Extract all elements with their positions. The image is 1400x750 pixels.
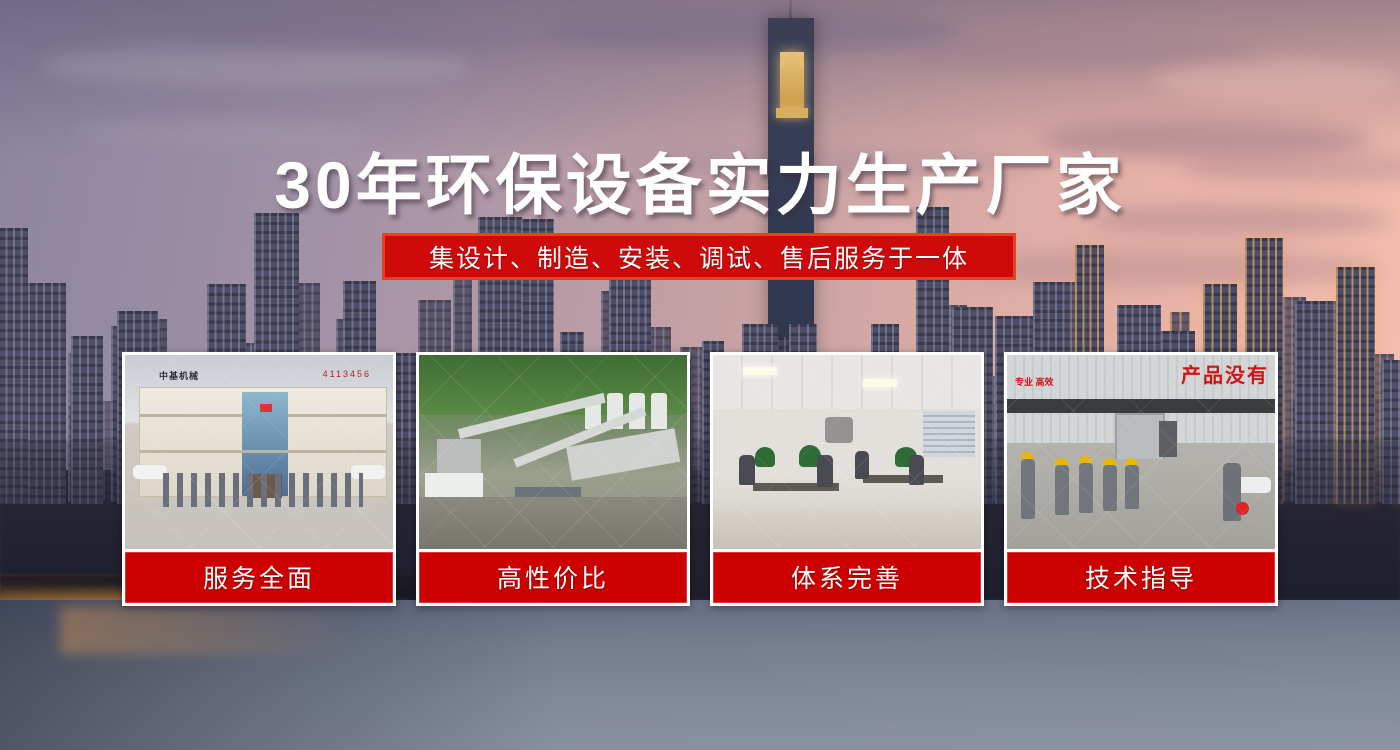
worker <box>1125 465 1139 509</box>
worker <box>1079 463 1093 513</box>
feature-card[interactable]: 高性价比 <box>416 352 690 606</box>
ceiling <box>713 355 981 409</box>
plant-yard <box>419 497 687 549</box>
office-worker <box>909 455 924 485</box>
factory-window-band <box>1007 399 1275 413</box>
potted-plant <box>755 447 775 467</box>
staff-lineup <box>163 473 363 507</box>
building-phone-number: 4113456 <box>323 369 371 379</box>
feature-card[interactable]: 中基机械 4113456 服务全面 <box>122 352 396 606</box>
office-desk <box>863 475 943 483</box>
parked-car <box>133 465 167 479</box>
subtitle-text: 集设计、制造、安装、调试、售后服务于一体 <box>429 239 969 275</box>
office-worker <box>817 455 833 487</box>
card-caption: 技术指导 <box>1007 549 1275 603</box>
card-caption: 服务全面 <box>125 549 393 603</box>
feature-card-list: 中基机械 4113456 服务全面 <box>122 352 1278 606</box>
silo <box>651 393 667 429</box>
hard-hat <box>1103 458 1116 465</box>
window-blinds <box>923 411 975 457</box>
industrial-plant-photo <box>419 355 687 549</box>
feature-card[interactable]: 体系完善 <box>710 352 984 606</box>
factory-side-door <box>1159 421 1177 457</box>
hard-hat <box>1079 456 1092 463</box>
banner-stage: 30年环保设备实力生产厂家 集设计、制造、安装、调试、售后服务于一体 中基机械 … <box>0 0 1400 750</box>
worker <box>1021 459 1035 519</box>
office-interior-photo <box>713 355 981 549</box>
building-signage: 中基机械 <box>159 369 199 382</box>
card-caption: 体系完善 <box>713 549 981 603</box>
wall-logo <box>825 417 853 443</box>
office-worker <box>739 455 755 485</box>
office-building-photo: 中基机械 4113456 <box>125 355 393 549</box>
hard-hat <box>1021 452 1034 459</box>
office-worker <box>855 451 869 479</box>
ceiling-light <box>743 367 777 375</box>
skyscraper-lit-crown-base <box>776 108 808 118</box>
red-helmet <box>1236 502 1249 515</box>
ceiling-light <box>863 379 897 387</box>
plant-shed <box>425 473 483 499</box>
factory-slogan: 专业 高效 <box>1015 375 1054 388</box>
page-title: 30年环保设备实力生产厂家 <box>0 132 1400 228</box>
hard-hat <box>1125 458 1138 465</box>
flag-icon <box>260 404 272 412</box>
skyscraper-lit-crown <box>780 52 804 110</box>
water-reflection <box>60 606 480 654</box>
worker <box>1103 465 1117 511</box>
subtitle-bar: 集设计、制造、安装、调试、售后服务于一体 <box>382 233 1016 280</box>
worker <box>1055 465 1069 515</box>
factory-door <box>1115 413 1165 463</box>
workers-training-photo: 产品没有 专业 高效 <box>1007 355 1275 549</box>
card-caption: 高性价比 <box>419 549 687 603</box>
hard-hat <box>1055 458 1068 465</box>
office-floor <box>713 509 981 549</box>
feature-card[interactable]: 产品没有 专业 高效 技术指导 <box>1004 352 1278 606</box>
factory-sign: 产品没有 <box>1181 359 1269 388</box>
